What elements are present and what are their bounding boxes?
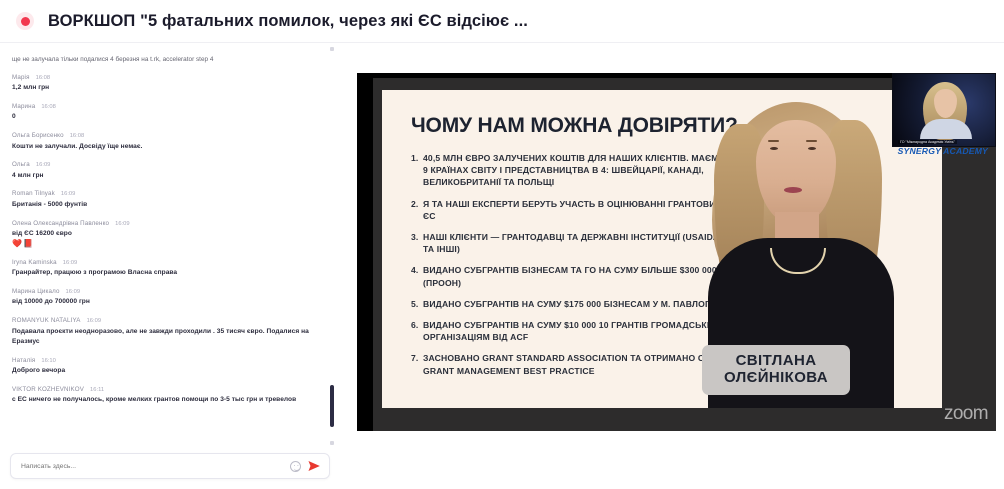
chat-message-header: Марина Цикало16:09	[12, 288, 322, 295]
message-input[interactable]	[21, 463, 284, 470]
scrollbar-down-arrow[interactable]	[330, 441, 334, 445]
chat-message-author: Марина Цикало	[12, 288, 60, 295]
participant-thumbnail[interactable]: ГО "Міжнародна Академія Умінь"	[892, 73, 996, 147]
chat-message-author: Марина	[12, 103, 35, 110]
chat-message-author: ROMANYUK NATALIYA	[12, 317, 81, 324]
chat-composer-wrap	[0, 449, 340, 489]
chat-message-time: 16:08	[36, 75, 51, 81]
chat-message-time: 16:09	[61, 191, 76, 197]
video-stage[interactable]: ЧОМУ НАМ МОЖНА ДОВІРЯТИ? 1.40,5 МЛН ЄВРО…	[357, 73, 996, 431]
chat-message-text: від 10000 до 700000 грн	[12, 297, 322, 307]
chat-message: Ольга Борисенко16:08Кошти не залучали. Д…	[12, 132, 322, 152]
chat-message: ROMANYUK NATALIYA16:09Подавала проєкти н…	[12, 317, 322, 347]
chat-message: Roman Tilnyak16:09Британія - 5000 фунтів	[12, 190, 322, 210]
chat-message-text: с ЕС ничего не получалось, кроме мелких …	[12, 395, 322, 405]
slide-bullet-number: 5.	[411, 298, 418, 310]
page-title: ВОРКШОП "5 фатальних помилок, через які …	[48, 12, 528, 31]
chat-message-text: 0	[12, 112, 322, 122]
chat-message: Марія16:081,2 млн грн	[12, 74, 322, 94]
chat-message-text: Британія - 5000 фунтів	[12, 200, 322, 210]
chat-message-header: Iryna Kaminska16:09	[12, 259, 322, 266]
chat-message: Ольга16:094 млн грн	[12, 161, 322, 181]
chat-message-text: Подавала проєкти неодноразово, але не за…	[12, 327, 322, 347]
chat-message-time: 16:09	[115, 221, 130, 227]
synergy-academy-brand: SYNERGY ACADEMY	[898, 146, 988, 156]
scrollbar-up-arrow[interactable]	[330, 47, 334, 51]
slide-bullet-number: 4.	[411, 264, 418, 276]
recording-dot-icon	[16, 12, 34, 30]
chat-message-time: 16:09	[36, 162, 51, 168]
chat-panel: ще не залучала тільки подалися 4 березня…	[0, 43, 340, 489]
chat-message-emoji: ❤️📕	[12, 240, 322, 249]
chat-message-header: ROMANYUK NATALIYA16:09	[12, 317, 322, 324]
send-paper-plane-icon[interactable]	[307, 459, 321, 473]
presenter-last-name: ОЛЄЙНІКОВА	[724, 369, 828, 387]
chat-message-time: 16:08	[41, 104, 56, 110]
chat-message-time: 16:09	[66, 289, 81, 295]
chat-message-text: Гранрайтер, працюю з програмою Власна сп…	[12, 268, 322, 278]
slide-bullet-number: 2.	[411, 198, 418, 210]
chat-message-header: Олена Олександрівна Павленко16:09	[12, 220, 322, 227]
chat-message-text: 1,2 млн грн	[12, 83, 322, 93]
chat-message-partial: ще не залучала тільки подалися 4 березня…	[12, 55, 322, 65]
slide-bullet-number: 6.	[411, 319, 418, 331]
chat-message-text: від ЄС 16200 євро	[12, 229, 322, 239]
chat-message-list[interactable]: ще не залучала тільки подалися 4 березня…	[0, 49, 340, 449]
chat-message: Марина16:080	[12, 103, 322, 123]
chat-message-time: 16:10	[41, 358, 56, 364]
chat-message: Марина Цикало16:09від 10000 до 700000 гр…	[12, 288, 322, 308]
slide-bullet-number: 7.	[411, 352, 418, 364]
window-header: ВОРКШОП "5 фатальних помилок, через які …	[0, 0, 1004, 43]
chat-message-time: 16:11	[90, 387, 104, 393]
chat-message-header: Ольга Борисенко16:08	[12, 132, 322, 139]
chat-message: VIKTOR KOZHEVNIKOV16:11с ЕС ничего не по…	[12, 386, 322, 406]
main-body: ще не залучала тільки подалися 4 березня…	[0, 43, 1004, 489]
slide-bullet-number: 1.	[411, 152, 418, 164]
chat-message-time: 16:09	[63, 260, 78, 266]
presenter-name-plate: СВІТЛАНА ОЛЄЙНІКОВА	[702, 345, 850, 395]
chat-message-header: Наталія16:10	[12, 357, 322, 364]
participant-name-label: ГО "Міжнародна Академія Умінь"	[898, 140, 957, 144]
chat-message-header: Марина16:08	[12, 103, 322, 110]
presentation-slide: ЧОМУ НАМ МОЖНА ДОВІРЯТИ? 1.40,5 МЛН ЄВРО…	[382, 90, 942, 408]
chat-message-author: Iryna Kaminska	[12, 259, 57, 266]
chat-scrollbar[interactable]	[330, 47, 334, 445]
emoji-icon[interactable]	[290, 461, 301, 472]
chat-message-author: Ольга Борисенко	[12, 132, 64, 139]
chat-message-author: Наталія	[12, 357, 35, 364]
zoom-watermark: zoom	[944, 403, 988, 425]
chat-message: Наталія16:10Доброго вечора	[12, 357, 322, 377]
chat-message-author: VIKTOR KOZHEVNIKOV	[12, 386, 84, 393]
chat-message: Iryna Kaminska16:09Гранрайтер, працюю з …	[12, 259, 322, 279]
chat-message-author: Олена Олександрівна Павленко	[12, 220, 109, 227]
chat-message: Олена Олександрівна Павленко16:09від ЄС …	[12, 220, 322, 250]
scrollbar-thumb[interactable]	[330, 385, 334, 427]
chat-composer[interactable]	[10, 453, 330, 479]
chat-message-text: 4 млн грн	[12, 171, 322, 181]
chat-message-text: Кошти не залучали. Досвіду їще немає.	[12, 142, 322, 152]
chat-message-author: Ольга	[12, 161, 30, 168]
chat-message-header: Roman Tilnyak16:09	[12, 190, 322, 197]
chat-message-time: 16:08	[70, 133, 85, 139]
slide-bullet-number: 3.	[411, 231, 418, 243]
chat-message-header: Марія16:08	[12, 74, 322, 81]
chat-message-text: Доброго вечора	[12, 366, 322, 376]
chat-message-author: Roman Tilnyak	[12, 190, 55, 197]
chat-message-author: Марія	[12, 74, 30, 81]
chat-message-time: 16:09	[87, 318, 102, 324]
presenter-first-name: СВІТЛАНА	[724, 352, 828, 370]
chat-message-header: Ольга16:09	[12, 161, 322, 168]
chat-message-header: VIKTOR KOZHEVNIKOV16:11	[12, 386, 322, 393]
